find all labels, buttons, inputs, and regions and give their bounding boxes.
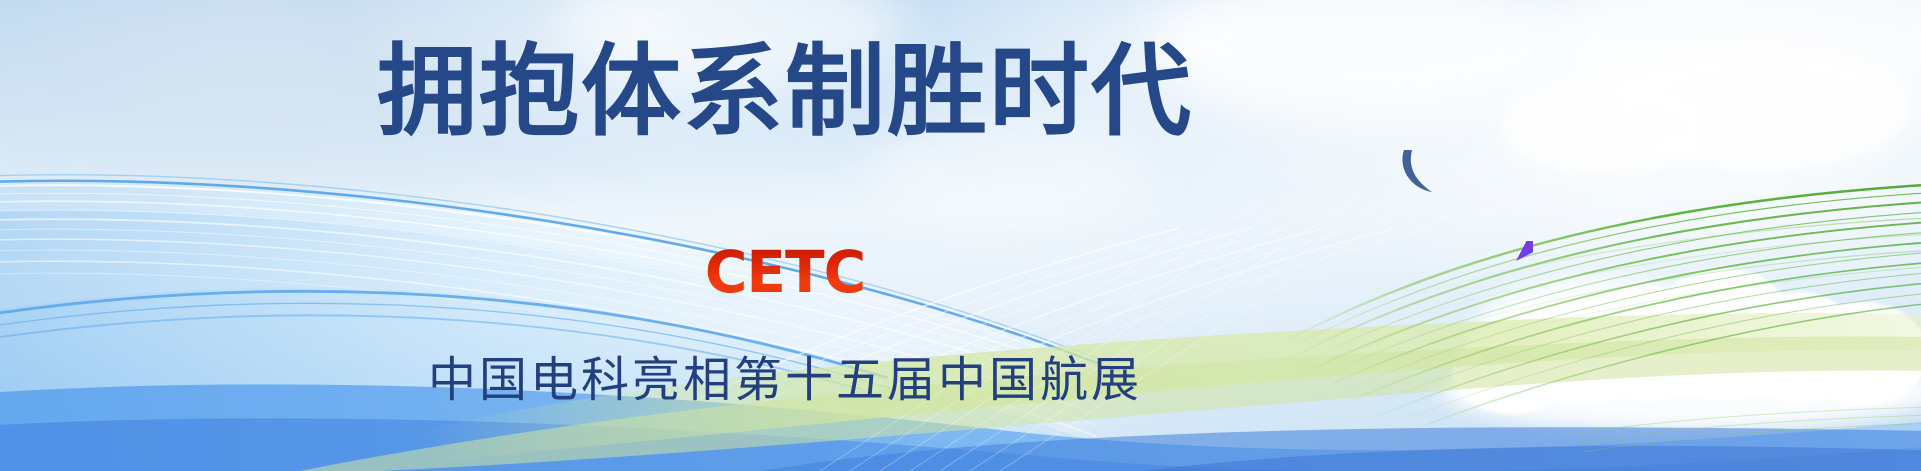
hatch-texture [0,0,1921,471]
purple-arrow-accent-icon [1516,241,1533,261]
navy-crescent-decor [0,0,1921,471]
green-arc-lines [0,0,1921,471]
cetc-airshow-banner: 拥抱体系制胜时代 CETC 中国电科亮相第十五届中国航展 [0,0,1921,471]
blue-ribbon-curves [0,0,1921,471]
sky-background [0,0,1921,471]
banner-subtitle: 中国电科亮相第十五届中国航展 [0,355,1570,408]
cetc-logo: CETC [0,243,1570,301]
cetc-wordmark: CETC [705,243,865,301]
page-title: 拥抱体系制胜时代 [0,38,1570,146]
banner-content: 拥抱体系制胜时代 CETC 中国电科亮相第十五届中国航展 [0,0,1921,471]
